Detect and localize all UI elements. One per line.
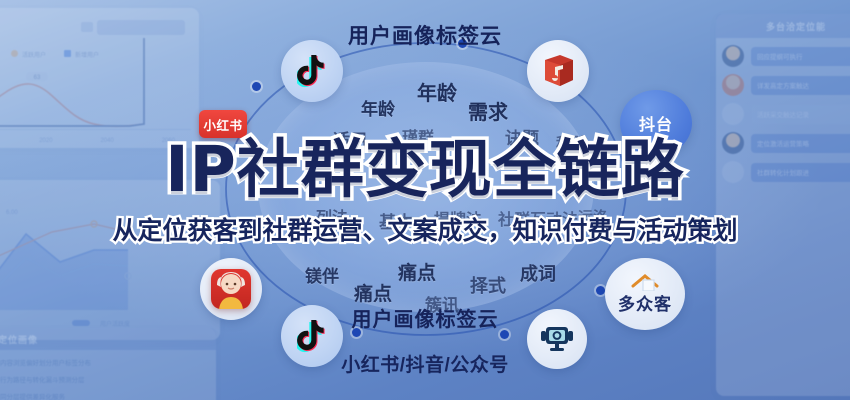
subtitle-container: 从定位获客到社群运营、文案成交，知识付费与活动策划 bbox=[0, 218, 850, 244]
tag: 择式 bbox=[470, 272, 506, 298]
tag: 痛点 bbox=[398, 258, 436, 285]
tag: 镁伴 bbox=[305, 262, 339, 287]
ring-dot bbox=[596, 286, 605, 295]
house-arrow-icon bbox=[630, 273, 660, 291]
tag: 年龄 bbox=[361, 95, 395, 120]
tag: 年龄 bbox=[417, 77, 457, 106]
headline-container: IP社群变现全链路 bbox=[0, 138, 850, 201]
tag: 痛点 bbox=[354, 279, 392, 306]
promo-banner: 交易量 活跃用户 新增用户 63 2008 2020 2040 2060 6.0… bbox=[0, 0, 850, 400]
tag: 成词 bbox=[520, 260, 556, 286]
caption-bottom-cloud: 用户画像标签云 bbox=[0, 303, 850, 332]
music-cube-icon bbox=[540, 52, 576, 90]
caption-top: 用户画像标签云 bbox=[0, 20, 850, 50]
page-title: IP社群变现全链路 bbox=[165, 138, 685, 201]
tag: 需求 bbox=[468, 96, 508, 125]
caption-bottom-channels: 小红书/抖音/公众号 bbox=[0, 350, 850, 377]
page-subtitle: 从定位获客到社群运营、文案成交，知识付费与活动策划 bbox=[112, 218, 737, 243]
ring-dot bbox=[252, 82, 261, 91]
tiktok-note-icon bbox=[297, 54, 327, 88]
xiaohongshu-label: 小红书 bbox=[203, 115, 242, 134]
node-label: 抖台 bbox=[639, 111, 673, 135]
